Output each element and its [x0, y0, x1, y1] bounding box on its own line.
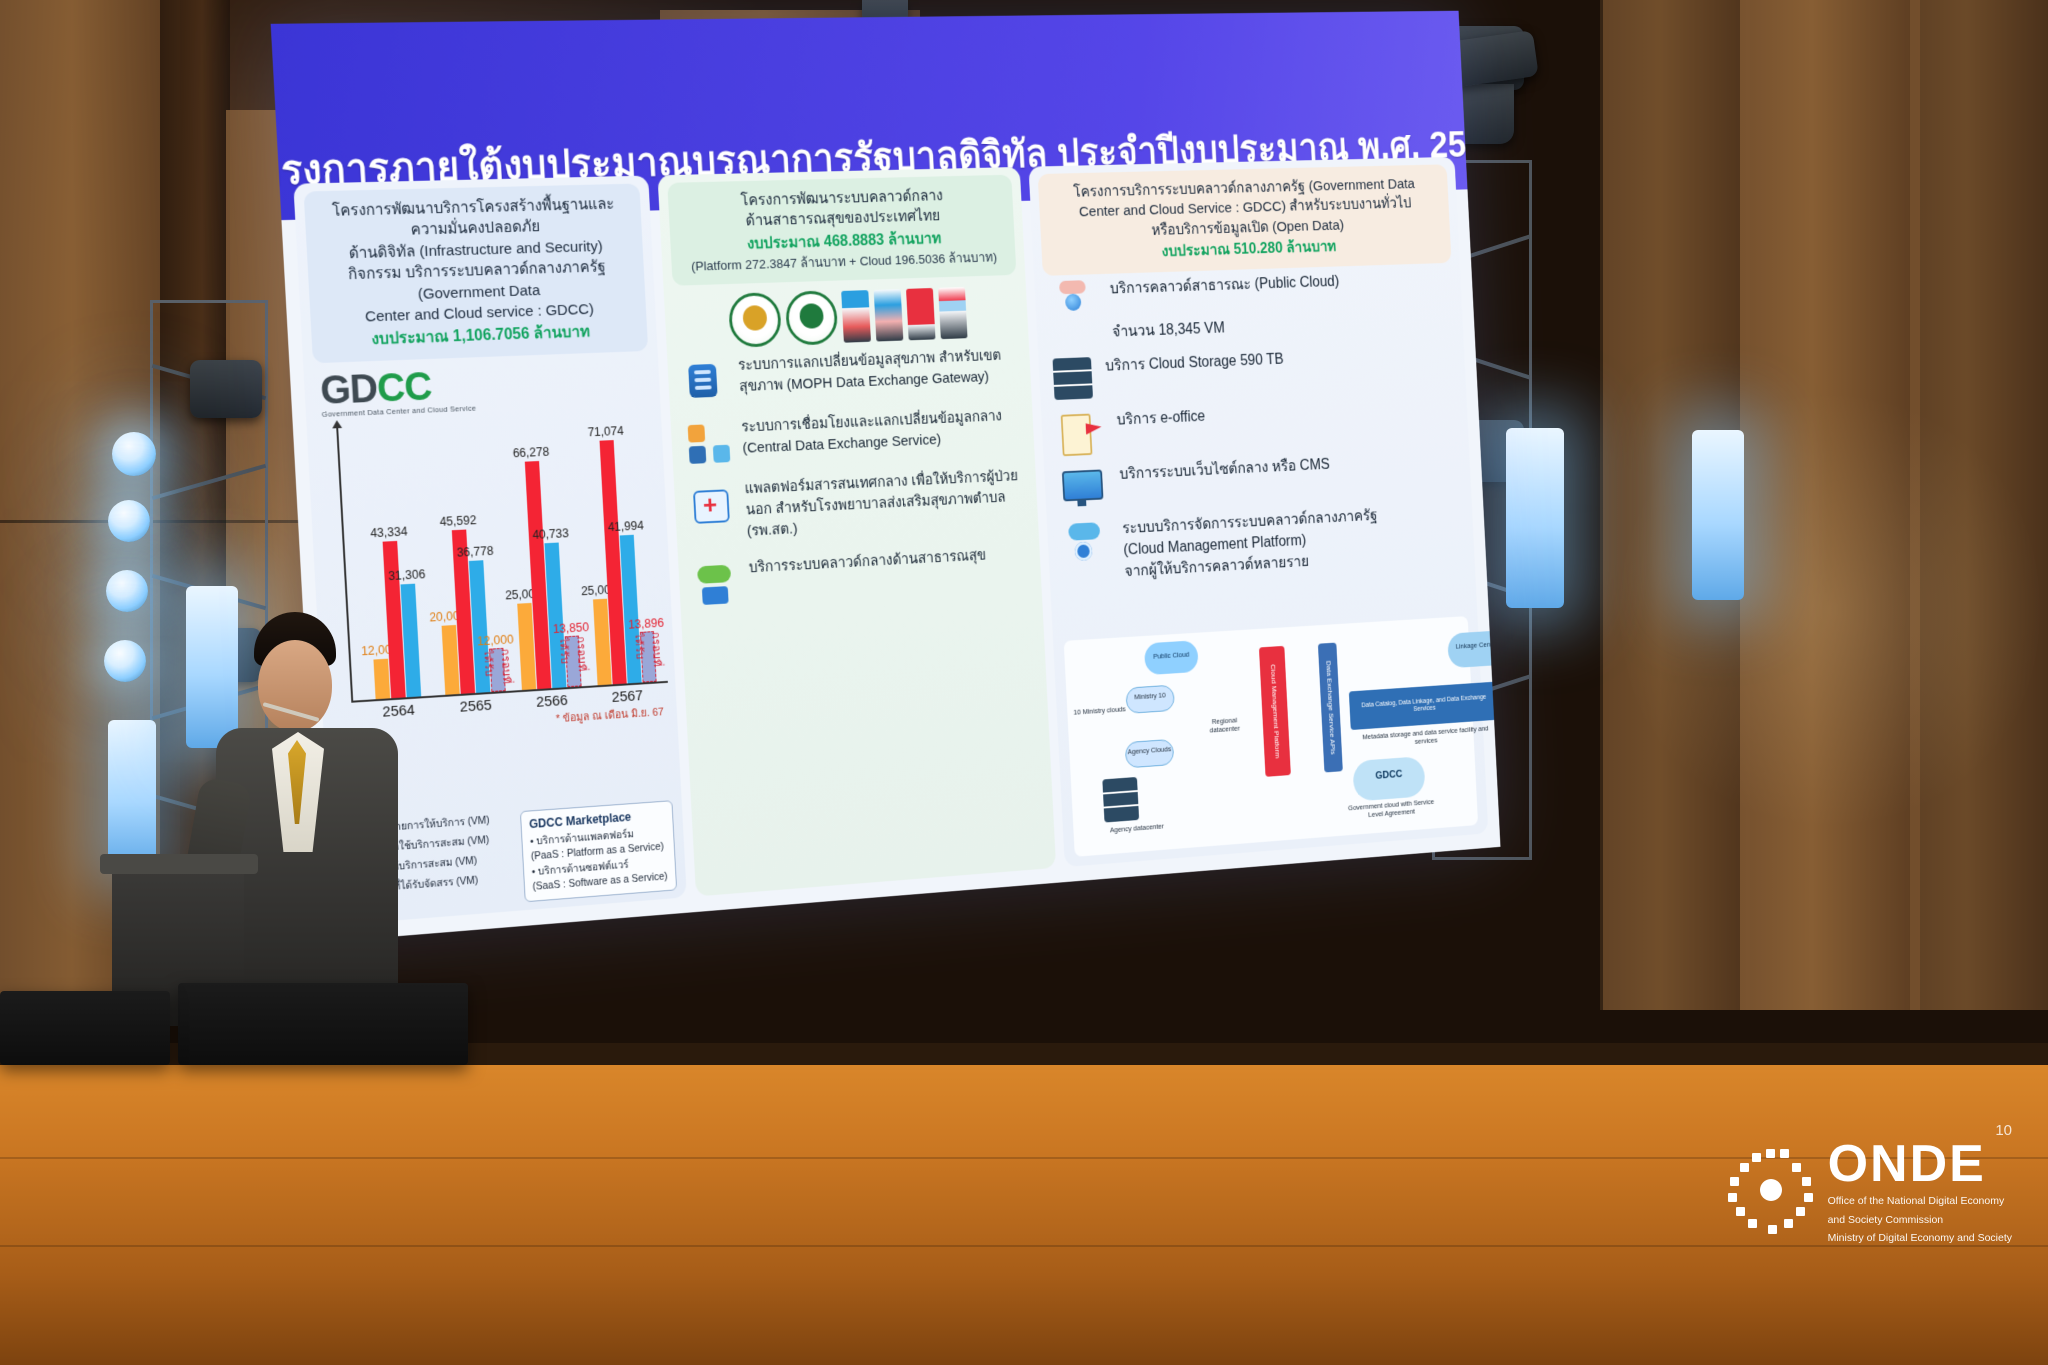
column-health-cloud: โครงการพัฒนาระบบคลาวด์กลาง ด้านสาธารณสุข… — [657, 167, 1056, 897]
inbar-label: กรอบที่ได้รับ — [479, 649, 515, 686]
xlabel-2565: 2565 — [441, 696, 511, 717]
eoffice-doc-icon — [1055, 412, 1104, 455]
cloud-management-platform-node: Cloud Management Platform — [1259, 646, 1291, 777]
label-allocated-2567: 13,896 — [628, 616, 664, 632]
health-pictogram-icon — [874, 289, 904, 341]
data-linkage-icon — [684, 420, 735, 469]
moving-head-light — [190, 360, 262, 418]
health-pictogram-icon — [906, 288, 936, 340]
label-served-2567: 41,994 — [607, 519, 644, 534]
label-requested-2566: 66,278 — [512, 445, 549, 460]
inbar-label: กรอบที่ได้รับ — [630, 632, 666, 677]
data-exchange-api-node: Data Exchange Service APIs — [1318, 643, 1343, 773]
feature-row: ระบบการแลกเปลี่ยนข้อมูลสุขภาพ สำหรับเขต … — [678, 345, 1020, 404]
label-requested-2564: 43,334 — [370, 525, 408, 541]
stage-lamp — [104, 640, 146, 682]
datacenter-rack-icon — [1102, 777, 1139, 823]
col3-item2-line1: บริการ Cloud Storage 590 TB — [1105, 352, 1284, 375]
health-pictogram-icon — [841, 291, 871, 344]
onde-fullname-line2: and Society Commission — [1828, 1213, 2012, 1227]
inbar-label: กรอบที่ได้รับ — [554, 636, 590, 681]
feature-row: ระบบการเชื่อมโยงและแลกเปลี่ยนข้อมูลกลาง … — [682, 406, 1024, 467]
col3-item1-line2: จำนวน 18,345 VM — [1112, 320, 1225, 340]
onde-fullname-line1: Office of the National Digital Economy — [1828, 1194, 2012, 1208]
conference-hall-scene: โครงการภายใต้งบประมาณบูรณาการรัฐบาลดิจิท… — [0, 0, 2048, 1365]
wall-panel — [1910, 0, 2048, 1010]
storage-rack-icon — [1053, 357, 1094, 400]
feature-row: บริการระบบคลาวด์กลางด้านสาธารณสุข — [689, 543, 1031, 608]
stage-monitor-speaker — [178, 983, 468, 1065]
data-services-title: Data Catalog, Data Linkage, and Data Exc… — [1351, 694, 1497, 718]
stage-monitor-speaker — [0, 991, 170, 1065]
data-services-box: Data Catalog, Data Linkage, and Data Exc… — [1349, 682, 1499, 730]
list-item: ระบบบริการจัดการระบบคลาวด์กลางภาครัฐ (Cl… — [1061, 502, 1462, 587]
col2-header-card: โครงการพัฒนาระบบคลาวด์กลาง ด้านสาธารณสุข… — [667, 175, 1016, 287]
column-gdcc-general: โครงการบริการระบบคลาวด์กลางภาครัฐ (Gover… — [1028, 157, 1488, 867]
onde-acronym: ONDE — [1828, 1138, 2012, 1190]
led-panel-light — [108, 720, 156, 870]
col1-header-card: โครงการพัฒนาบริการโครงสร้างพื้นฐานและควา… — [304, 184, 649, 364]
chart-group-2565: 20,000 45,592 36,778 12,000 กรอบที่ได้รั… — [426, 420, 510, 696]
label-served-2564: 31,306 — [388, 568, 426, 584]
col2-feat2-line2: (Central Data Exchange Service) — [742, 432, 941, 457]
gdcc-service-list: บริการคลาวด์สาธารณะ (Public Cloud) จำนวน… — [1048, 269, 1461, 587]
col2-feat3-line3: (รพ.สต.) — [747, 521, 798, 540]
wall-seam — [1600, 0, 1603, 1010]
list-item: บริการ Cloud Storage 590 TB — [1053, 344, 1453, 401]
col2-feat1-line2: สุขภาพ (MOPH Data Exchange Gateway) — [739, 369, 990, 395]
onde-ministry: Ministry of Digital Economy and Society — [1828, 1231, 2012, 1245]
col3-item4-line1: บริการระบบเว็บไซต์กลาง หรือ CMS — [1119, 457, 1330, 483]
cloud-health-icon — [691, 560, 741, 609]
cmp-label: Cloud Management Platform — [1269, 664, 1281, 759]
chart-group-2567: 25,000 71,074 41,994 13,896 กรอบที่ได้รั… — [578, 414, 660, 686]
mdes-seal-icon — [728, 292, 782, 348]
led-panel-light — [1692, 430, 1744, 600]
public-cloud-icon — [1048, 280, 1097, 323]
health-pictogram-icon — [938, 287, 967, 339]
cloud-architecture-diagram: Public Cloud 10 Ministry clouds Ministry… — [1064, 616, 1478, 857]
gdcc-node-sub: Government cloud with Service Level Agre… — [1348, 797, 1435, 820]
label-requested-2565: 45,592 — [439, 514, 477, 530]
database-exchange-icon — [680, 358, 731, 406]
stage-lamp — [106, 570, 148, 612]
stage-lamp — [108, 500, 150, 542]
stage-lamp — [112, 432, 156, 476]
list-item: บริการ e-office — [1055, 396, 1455, 455]
health-platform-icon — [687, 482, 738, 531]
list-item: บริการคลาวด์สาธารณะ (Public Cloud) จำนวน… — [1048, 269, 1449, 346]
ministry-cloud-label: 10 Ministry clouds — [1072, 705, 1126, 717]
col3-item5-line3: จากผู้ให้บริการคลาวด์หลายราย — [1124, 554, 1309, 580]
led-panel-light — [1506, 428, 1564, 608]
col3-item3-line1: บริการ e-office — [1116, 409, 1205, 429]
chart-group-2566: 25,000 66,278 40,733 13,850 กรอบที่ได้รั… — [502, 417, 585, 691]
label-allocated-2566: 13,850 — [552, 621, 589, 637]
onde-watermark: 10 ONDE Office of the National Digital E… — [1728, 1138, 2012, 1245]
presenter-head — [258, 640, 332, 732]
agency-dc-label: Agency datacenter — [1103, 821, 1171, 835]
onde-logo-icon — [1728, 1149, 1814, 1235]
gdcc-marketplace-box: GDCC Marketplace • บริการด้านแพลตฟอร์ม (… — [520, 800, 677, 902]
cms-monitor-icon — [1058, 466, 1107, 510]
health-logos-row — [670, 285, 1024, 351]
list-item: บริการระบบเว็บไซต์กลาง หรือ CMS — [1058, 449, 1458, 509]
col3-header-card: โครงการบริการระบบคลาวด์กลางภาครัฐ (Gover… — [1038, 164, 1452, 276]
dsapi-label: Data Exchange Service APIs — [1324, 660, 1336, 755]
cloud-management-icon — [1061, 520, 1110, 564]
regional-dc-label: Regional datacenter — [1198, 715, 1252, 735]
label-served-2565: 36,778 — [456, 544, 493, 560]
stage-seam — [0, 1245, 2048, 1247]
feature-row: แพลตฟอร์มสารสนเทศกลาง เพื่อให้บริการผู้ป… — [685, 466, 1028, 545]
onde-anniversary: 10 — [1995, 1122, 2012, 1139]
col2-feat2-line1: ระบบการเชื่อมโยงและแลกเปลี่ยนข้อมูลกลาง — [741, 408, 1002, 435]
podium-top — [100, 854, 258, 874]
col2-feat4-line1: บริการระบบคลาวด์กลางด้านสาธารณสุข — [748, 547, 986, 576]
wall-panel — [1740, 0, 1920, 1010]
label-requested-2567: 71,074 — [587, 424, 624, 439]
col3-item1-line1: บริการคลาวด์สาธารณะ (Public Cloud) — [1110, 274, 1340, 297]
label-served-2566: 40,733 — [532, 527, 569, 543]
projection-screen: โครงการภายใต้งบประมาณบูรณาการรัฐบาลดิจิท… — [271, 11, 1501, 943]
moph-seal-icon — [785, 291, 839, 347]
col3-item5-line1: ระบบบริการจัดการระบบคลาวด์กลางภาครัฐ — [1122, 508, 1378, 537]
label-allocated-2565: 12,000 — [477, 633, 514, 649]
